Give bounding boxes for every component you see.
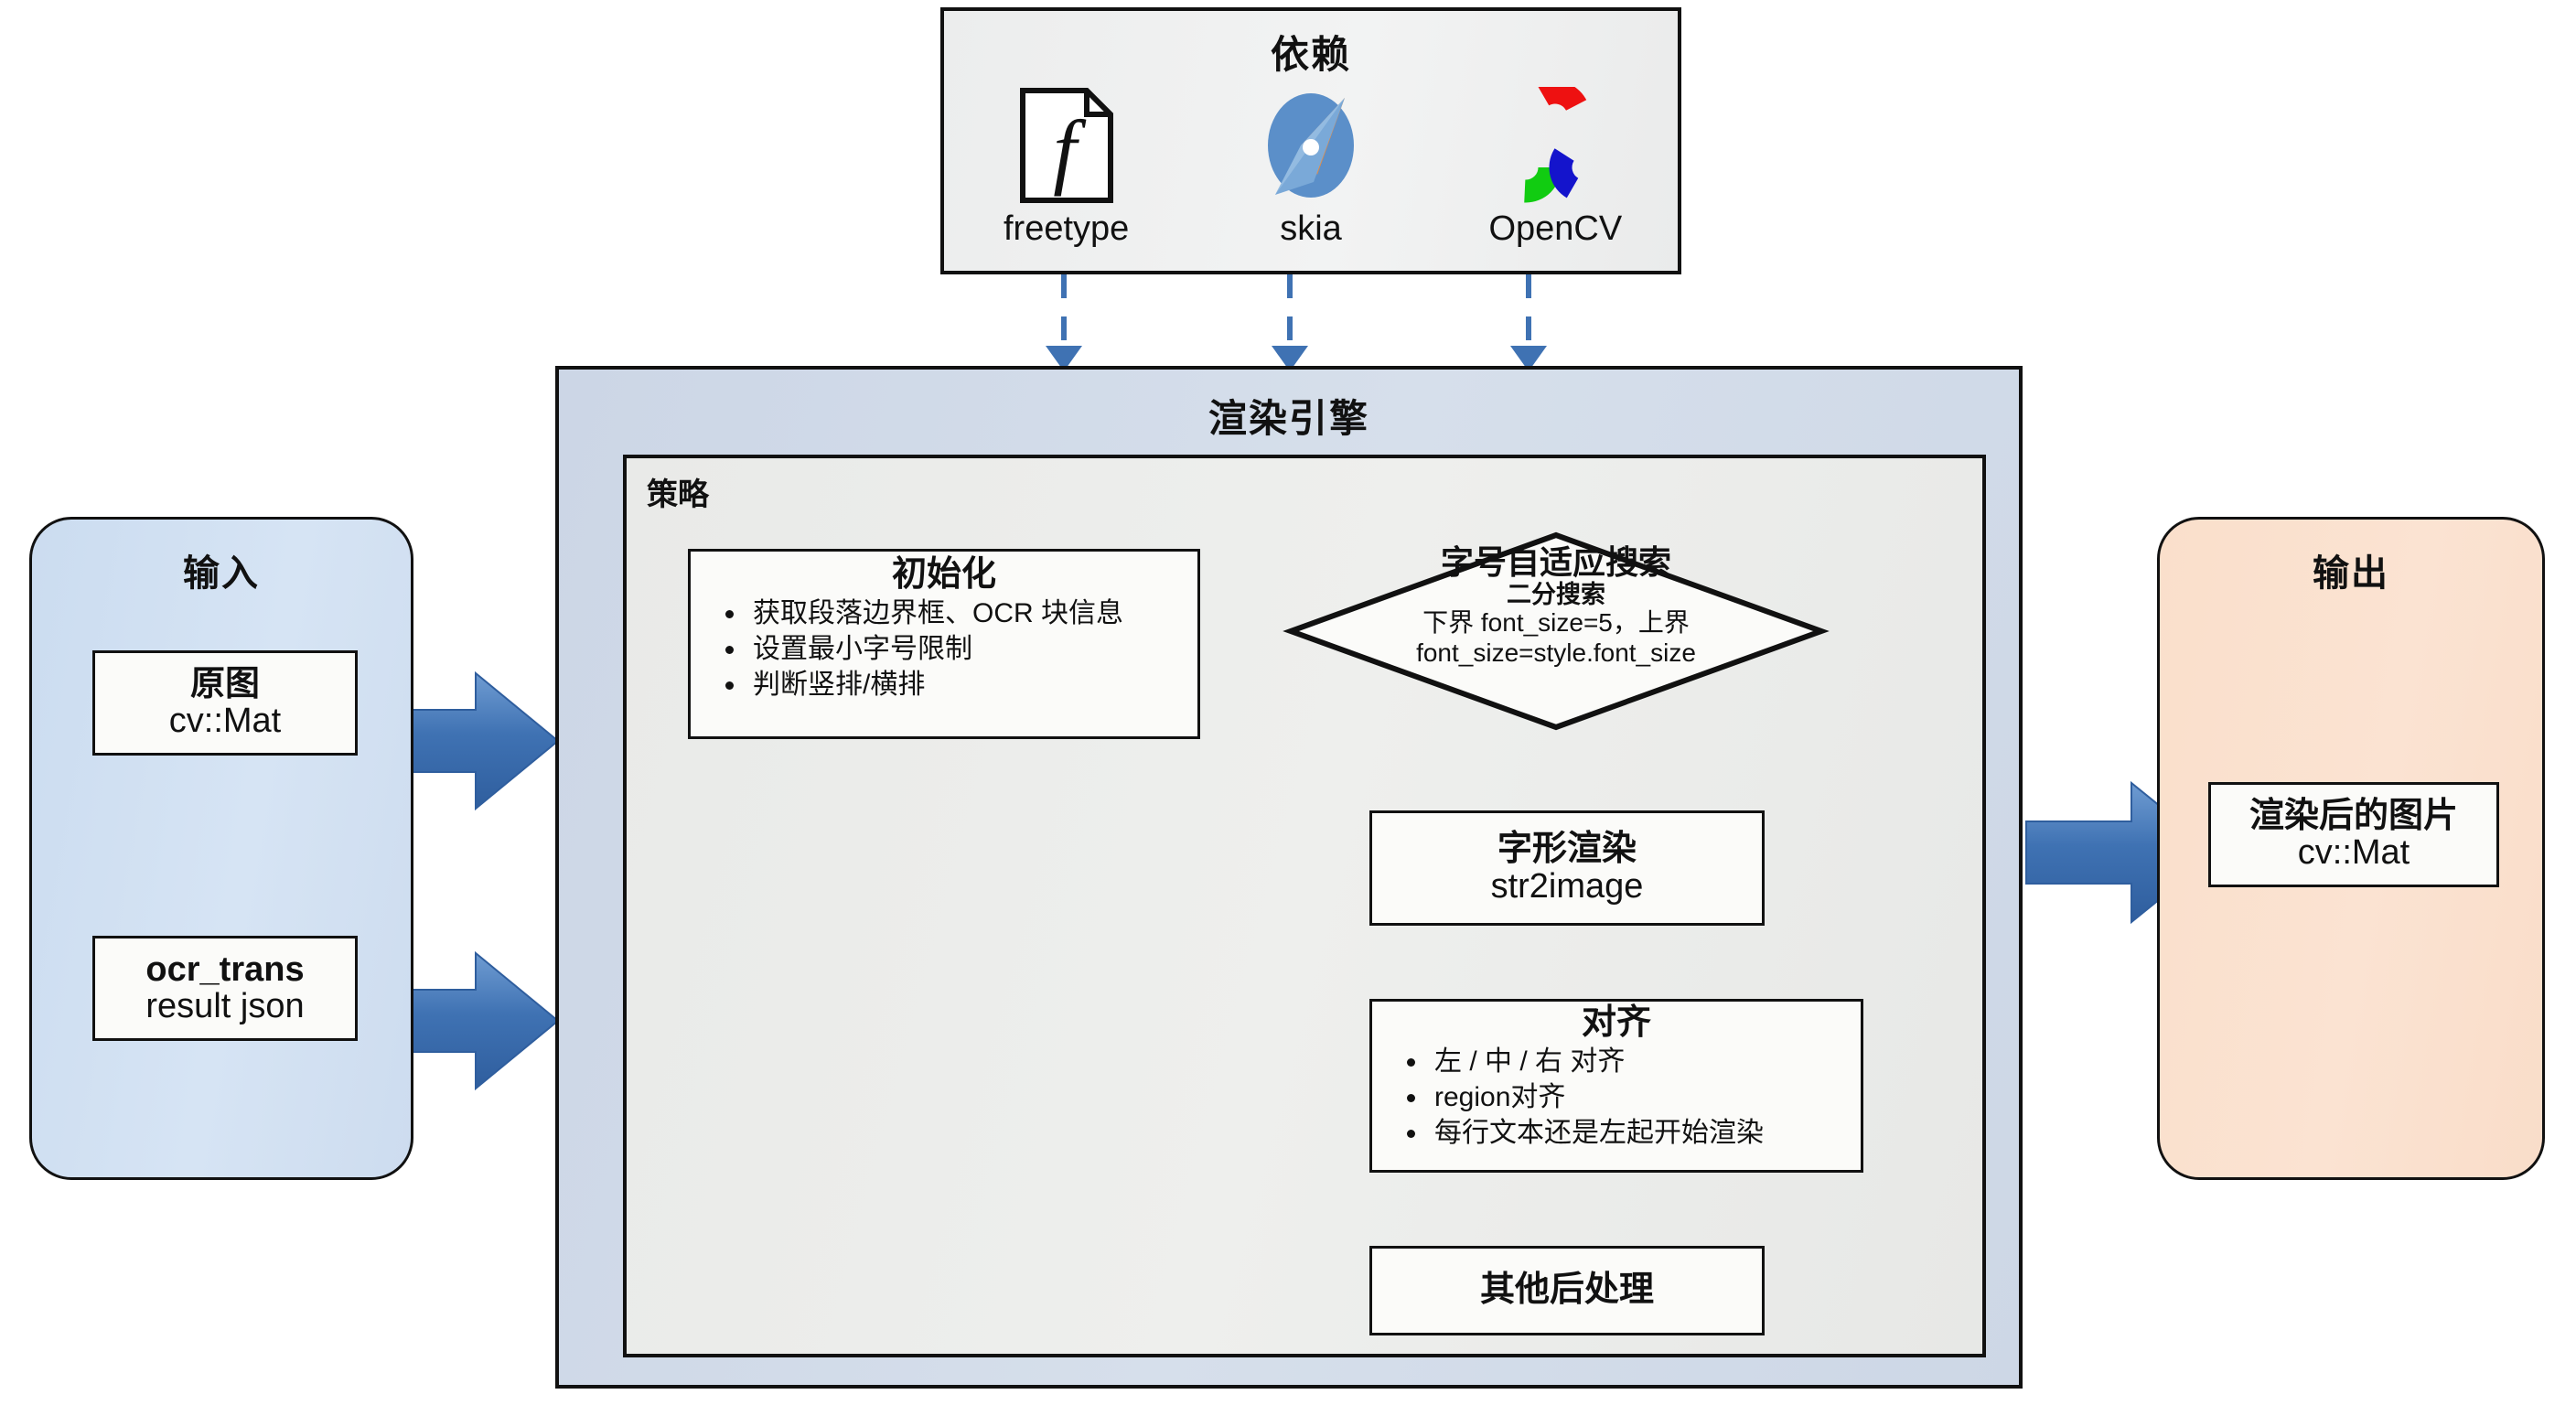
bullet-item: region对齐 [1403,1079,1861,1115]
dependency-label: skia [1206,209,1416,249]
step-initialization: 初始化 获取段落边界框、OCR 块信息 设置最小字号限制 判断竖排/横排 [688,549,1200,739]
dependencies-title: 依赖 [944,24,1678,80]
step-glyph-render: 字形渲染 str2image [1369,810,1765,926]
bullet-item: 判断竖排/横排 [722,667,1197,702]
decision-diamond-shape [1291,535,1821,727]
output-panel: 输出 渲染后的图片 cv::Mat [2157,517,2545,1180]
output-item-rendered-image: 渲染后的图片 cv::Mat [2208,782,2499,887]
bullet-item: 获取段落边界框、OCR 块信息 [722,595,1197,631]
skia-compass-icon [1206,85,1416,206]
output-title: 输出 [2313,543,2389,596]
step-title: 其他后处理 [1480,1272,1654,1309]
output-item-line1: 渲染后的图片 [2249,799,2458,835]
input-item-line1: ocr_trans [145,952,304,989]
render-engine-title: 渲染引擎 [559,388,2019,444]
strategy-label: 策略 [647,469,709,514]
output-item-line2: cv::Mat [2298,834,2410,871]
step-title: 初始化 [691,557,1197,594]
dependency-item-skia: skia [1206,85,1416,249]
input-title: 输入 [183,543,260,596]
input-item-ocr-json: ocr_trans result json [92,936,358,1041]
step-bullet-list: 获取段落边界框、OCR 块信息 设置最小字号限制 判断竖排/横排 [691,595,1197,702]
step-alignment: 对齐 左 / 中 / 右 对齐 region对齐 每行文本还是左起开始渲染 [1369,999,1863,1173]
input-item-original-image: 原图 cv::Mat [92,650,358,756]
diagram-canvas: 依赖 f freetype [0,0,2576,1405]
step-title: 字形渲染 [1497,831,1637,868]
step-subtitle: str2image [1491,868,1644,905]
bullet-item: 每行文本还是左起开始渲染 [1403,1115,1861,1151]
input-panel: 输入 原图 cv::Mat ocr_trans result json [29,517,413,1180]
dependency-label: freetype [961,209,1172,249]
step-post-processing: 其他后处理 [1369,1246,1765,1335]
dependencies-panel: 依赖 f freetype [940,7,1681,274]
bullet-item: 左 / 中 / 右 对齐 [1403,1044,1861,1079]
dependencies-logo-row: f freetype skia [944,85,1678,249]
dependency-item-freetype: f freetype [961,85,1172,249]
input-item-line1: 原图 [190,667,260,703]
opencv-logo-icon [1450,85,1660,206]
input-item-line2: result json [145,988,304,1024]
step-bullet-list: 左 / 中 / 右 对齐 region对齐 每行文本还是左起开始渲染 [1372,1044,1861,1151]
dependency-label: OpenCV [1450,209,1660,249]
dependency-dashed-arrows [1064,274,1529,349]
freetype-document-f-icon: f [961,85,1172,206]
dependency-item-opencv: OpenCV [1450,85,1660,249]
input-item-line2: cv::Mat [169,702,281,739]
bullet-item: 设置最小字号限制 [722,631,1197,667]
step-title: 对齐 [1372,1005,1861,1042]
step-font-size-search: 字号自适应搜索 二分搜索 下界 font_size=5，上界 font_size… [1286,531,1826,732]
